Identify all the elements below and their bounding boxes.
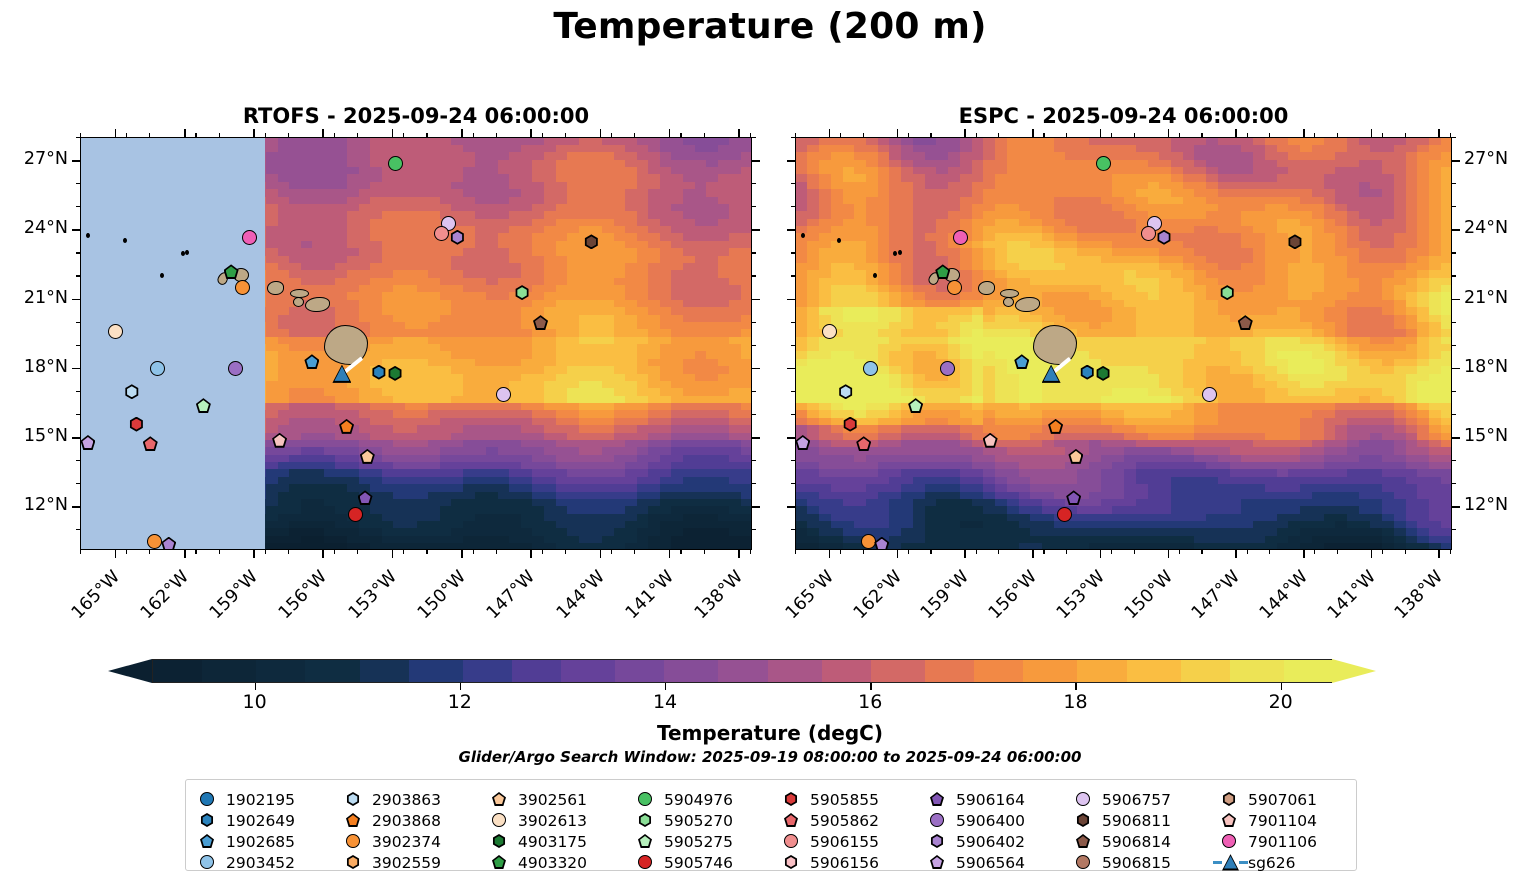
y-axis-label: 27°N [0,149,68,169]
marker-shape [334,366,349,381]
x-minor-tick [149,133,150,137]
x-axis-label: 153°W [334,567,400,633]
x-minor-tick [542,133,543,137]
x-minor-tick [403,133,404,137]
x-axis-label: 156°W [265,567,331,633]
x-tick [461,129,463,137]
y-tick [752,506,760,508]
y-minor-tick [752,460,756,461]
x-tick [530,550,532,558]
y-tick [752,368,760,370]
islet [123,238,127,243]
x-axis-label: 159°W [196,567,262,633]
x-tick [184,550,186,558]
y-tick [752,299,760,301]
marker-5906164[interactable] [358,490,373,505]
x-minor-tick [680,550,681,554]
marker-3902613[interactable] [108,324,123,339]
x-minor-tick [403,550,404,554]
x-minor-tick [611,133,612,137]
marker-4903175[interactable] [388,366,403,381]
marker-4903320[interactable] [224,264,239,279]
y-minor-tick [752,483,756,484]
y-minor-tick [76,183,80,184]
x-tick [392,550,394,558]
island [293,297,304,307]
marker-5905862[interactable] [143,436,158,451]
marker-5906402[interactable] [450,230,465,245]
x-minor-tick [195,133,196,137]
x-axis-label: 150°W [404,567,470,633]
y-minor-tick [752,414,756,415]
x-minor-tick [496,133,497,137]
x-minor-tick [265,550,266,554]
x-minor-tick [126,550,127,554]
marker-5905275[interactable] [196,398,211,413]
x-minor-tick [149,550,150,554]
island [267,281,284,295]
y-tick [72,437,80,439]
x-minor-tick [750,550,751,554]
marker-2903452[interactable] [150,361,165,376]
marker-1902685[interactable] [304,354,319,369]
marker-shape [434,226,449,241]
marker-1902649[interactable] [371,365,386,380]
x-tick [600,550,602,558]
y-axis-label: 15°N [0,426,68,446]
y-tick [72,229,80,231]
marker-shape [150,361,165,376]
marker-5906814[interactable] [533,315,548,330]
x-minor-tick [680,133,681,137]
no-data-region [81,138,265,549]
marker-5906564[interactable] [80,435,95,450]
x-minor-tick [750,133,751,137]
y-axis-label: 12°N [0,495,68,515]
marker-7901106[interactable] [242,230,257,245]
y-tick [752,229,760,231]
x-minor-tick [126,133,127,137]
x-minor-tick [542,550,543,554]
marker-5905270[interactable] [515,285,530,300]
y-tick [72,506,80,508]
x-axis-label: 138°W [681,567,747,633]
marker-5905746[interactable] [348,507,363,522]
y-minor-tick [76,414,80,415]
x-minor-tick [265,133,266,137]
x-tick [530,129,532,137]
marker-5906402b[interactable] [161,537,176,550]
x-tick [115,129,117,137]
y-tick [72,299,80,301]
x-minor-tick [334,133,335,137]
marker-shape [108,324,123,339]
x-tick [600,129,602,137]
marker-shape [235,280,250,295]
marker-5906757b[interactable] [496,387,511,402]
y-minor-tick [76,460,80,461]
x-minor-tick [704,133,705,137]
x-axis-label: 165°W [57,567,123,633]
y-tick [752,437,760,439]
y-minor-tick [752,529,756,530]
marker-5906400[interactable] [228,361,243,376]
x-tick [392,129,394,137]
x-tick [184,129,186,137]
x-minor-tick [426,550,427,554]
panel-title-rtofs: RTOFS - 2025-09-24 06:00:00 [80,104,752,128]
y-minor-tick [76,322,80,323]
map-panel-rtofs[interactable] [80,137,752,550]
y-minor-tick [76,483,80,484]
map-panel-espc[interactable] [795,137,1452,550]
x-tick [461,550,463,558]
x-tick [669,129,671,137]
y-tick [72,368,80,370]
x-tick [322,129,324,137]
x-minor-tick [357,133,358,137]
x-minor-tick [195,550,196,554]
x-minor-tick [288,133,289,137]
marker-shape [496,387,511,402]
marker-shape [388,156,403,171]
x-tick [253,550,255,558]
temperature-field [796,138,1451,549]
x-minor-tick [565,133,566,137]
marker-5905855[interactable] [129,417,144,432]
x-minor-tick [634,133,635,137]
field-cell [741,543,752,550]
marker-sg626[interactable] [332,364,351,383]
y-axis-label: 24°N [0,218,68,238]
y-minor-tick [752,183,756,184]
y-minor-tick [752,391,756,392]
x-minor-tick [219,550,220,554]
marker-5906155[interactable] [434,226,449,241]
marker-5906811[interactable] [584,234,599,249]
x-axis-label: 141°W [611,567,677,633]
y-minor-tick [76,391,80,392]
marker-7901104[interactable] [272,433,287,448]
page-title: Temperature (200 m) [0,6,1540,47]
x-minor-tick [473,133,474,137]
y-minor-tick [752,137,756,138]
y-minor-tick [76,206,80,207]
marker-2903863[interactable] [124,384,139,399]
x-minor-tick [496,550,497,554]
y-minor-tick [752,322,756,323]
y-minor-tick [76,275,80,276]
x-minor-tick [704,550,705,554]
x-axis-label: 147°W [473,567,539,633]
islet [86,233,90,238]
marker-3902561[interactable] [360,449,375,464]
x-minor-tick [611,550,612,554]
panel-title-espc: ESPC - 2025-09-24 06:00:00 [795,104,1452,128]
y-axis-label: 21°N [0,288,68,308]
y-minor-tick [76,529,80,530]
x-minor-tick [473,550,474,554]
y-minor-tick [752,252,756,253]
x-tick [738,550,740,558]
marker-3902374[interactable] [235,280,250,295]
x-tick [669,550,671,558]
islet [181,251,185,256]
marker-shape [147,534,162,549]
x-minor-tick [357,550,358,554]
x-minor-tick [288,550,289,554]
marker-3902374b[interactable] [147,534,162,549]
marker-2903868[interactable] [339,419,354,434]
x-minor-tick [565,550,566,554]
x-tick [115,550,117,558]
x-minor-tick [80,133,81,137]
y-minor-tick [76,252,80,253]
marker-shape [348,507,363,522]
marker-5904976[interactable] [388,156,403,171]
marker-shape [228,361,243,376]
y-minor-tick [76,345,80,346]
x-axis-label: 144°W [542,567,608,633]
x-axis-label: 162°W [127,567,193,633]
y-minor-tick [76,137,80,138]
x-minor-tick [80,550,81,554]
x-tick [738,129,740,137]
x-minor-tick [334,550,335,554]
x-tick [322,550,324,558]
y-minor-tick [752,275,756,276]
y-tick [72,160,80,162]
x-minor-tick [219,133,220,137]
y-axis-label: 18°N [0,357,68,377]
x-minor-tick [634,550,635,554]
y-tick [752,160,760,162]
y-minor-tick [752,345,756,346]
marker-shape [242,230,257,245]
y-minor-tick [752,206,756,207]
x-minor-tick [426,133,427,137]
x-tick [253,129,255,137]
